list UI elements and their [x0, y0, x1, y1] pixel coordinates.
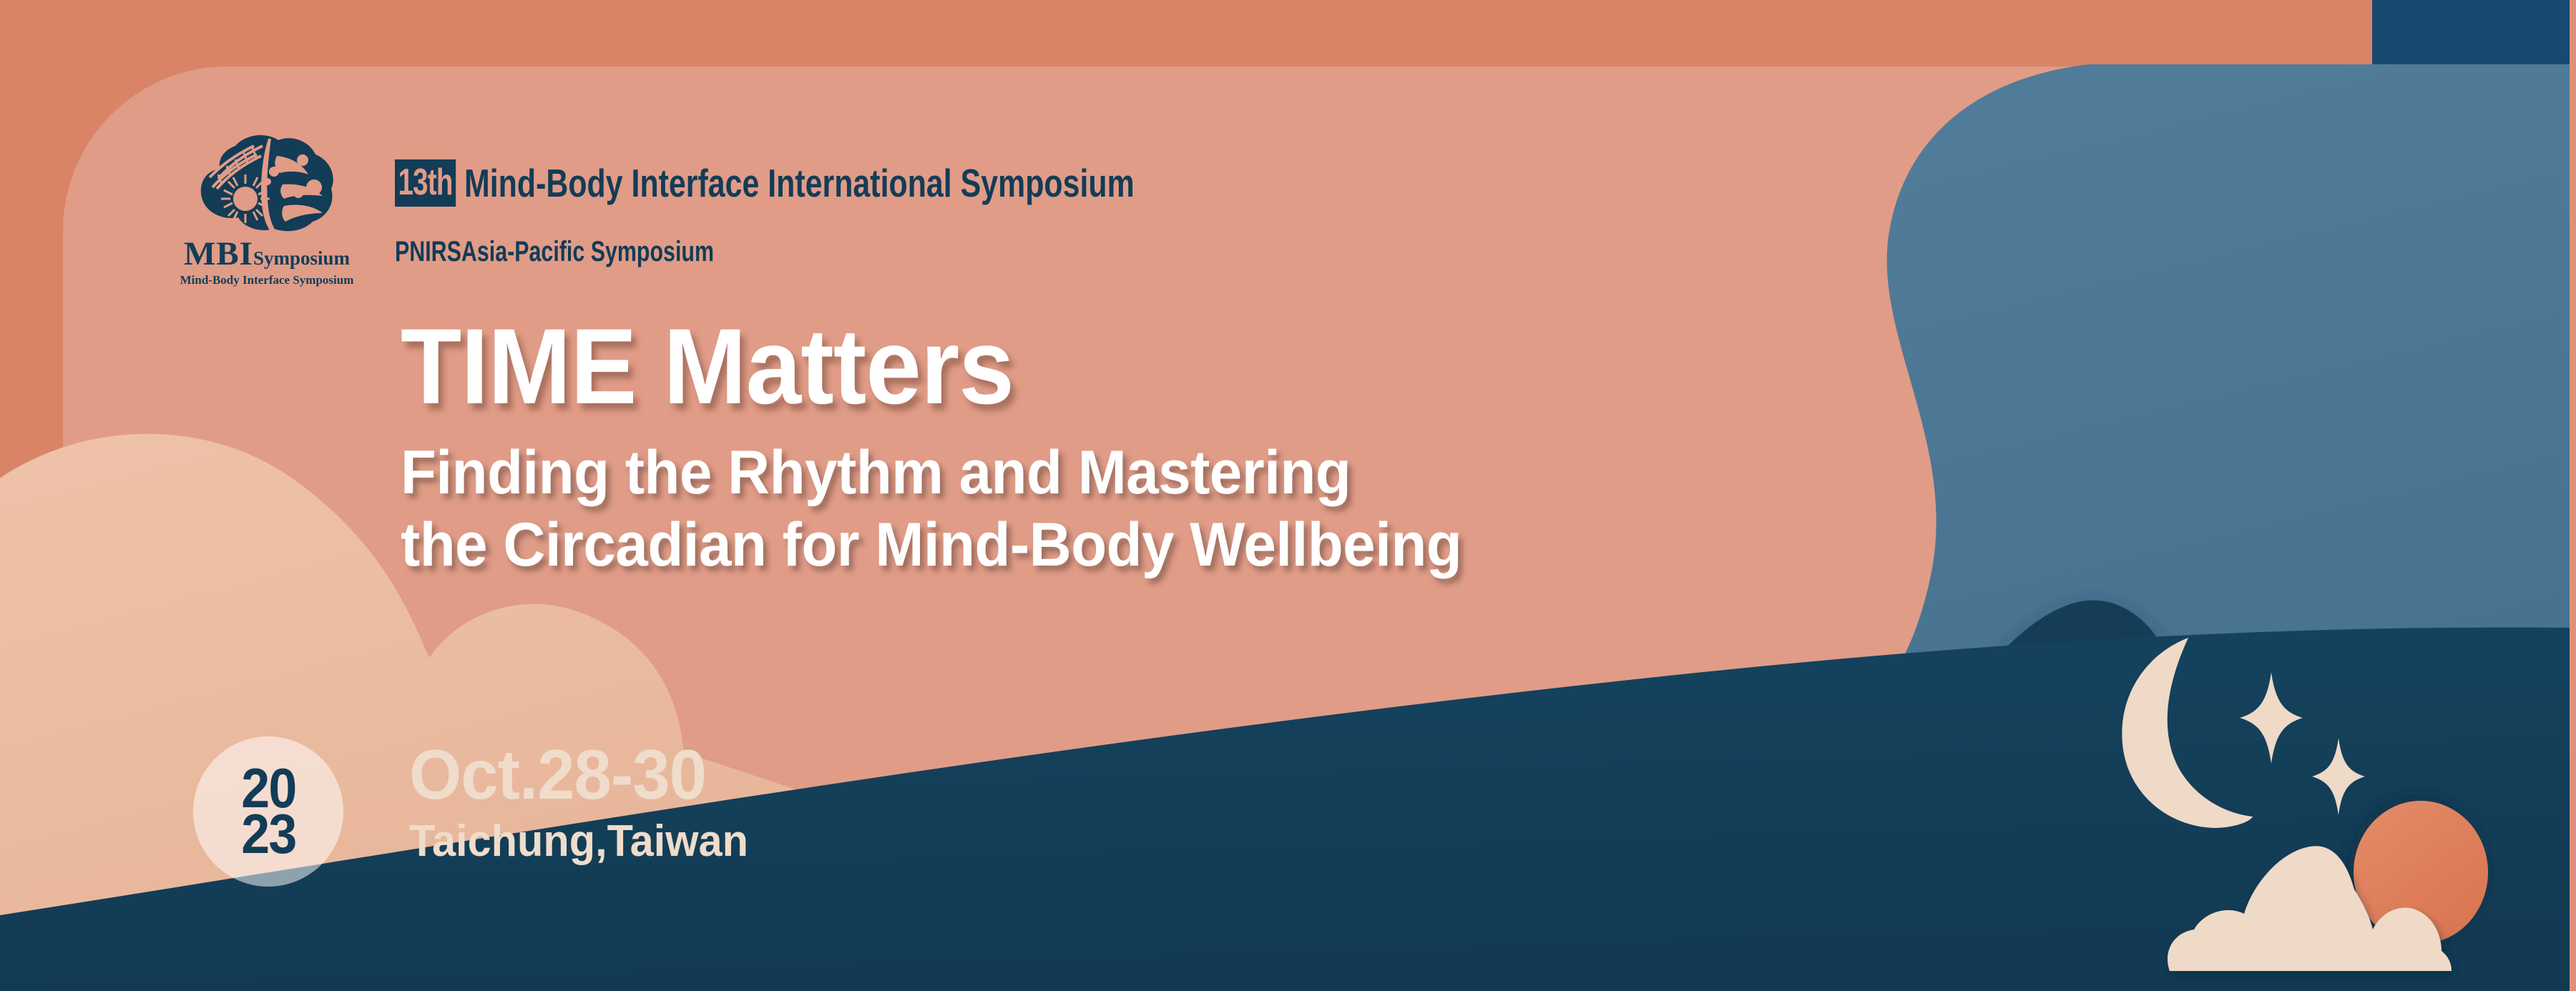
series-header: 13th Mind-Body Interface International S… [395, 159, 1323, 207]
sparkle-star-icon [2240, 672, 2303, 764]
hero-block: TIME Matters Finding the Rhythm and Mast… [401, 312, 1974, 582]
logo-acronym: MBI [184, 235, 253, 272]
year-bottom: 23 [241, 812, 295, 857]
mbi-brain-dna-circadian-logo-icon [194, 127, 341, 235]
event-dates: Oct.28-30 [409, 739, 748, 809]
year-badge: 20 23 [193, 736, 343, 887]
series-subtitle: PNIRSAsia-Pacific Symposium [395, 236, 714, 268]
sparkle-star-icon [2312, 738, 2365, 815]
hero-title: TIME Matters [401, 312, 1864, 421]
logo-acronym-suffix: Symposium [253, 247, 350, 269]
crescent-moon-icon [2122, 638, 2253, 828]
hero-subtitle-line-1: Finding the Rhythm and Mastering [401, 437, 1896, 509]
night-sky-decoration [2118, 615, 2576, 991]
mbi-logo: MBISymposium Mind-Body Interface Symposi… [177, 127, 356, 292]
edition-badge: 13th [395, 159, 456, 207]
series-title: Mind-Body Interface International Sympos… [464, 164, 1135, 203]
hero-subtitle: Finding the Rhythm and Mastering the Cir… [401, 437, 1974, 582]
logo-wordmark: MBISymposium [184, 237, 350, 271]
symposium-banner: 20 23 [0, 0, 2576, 991]
hero-subtitle-line-2: the Circadian for Mind-Body Wellbeing [401, 509, 1896, 581]
logo-tagline: Mind-Body Interface Symposium [180, 273, 354, 287]
event-location: Taichung,Taiwan [409, 819, 748, 864]
event-date-block: Oct.28-30 Taichung,Taiwan [409, 739, 763, 864]
